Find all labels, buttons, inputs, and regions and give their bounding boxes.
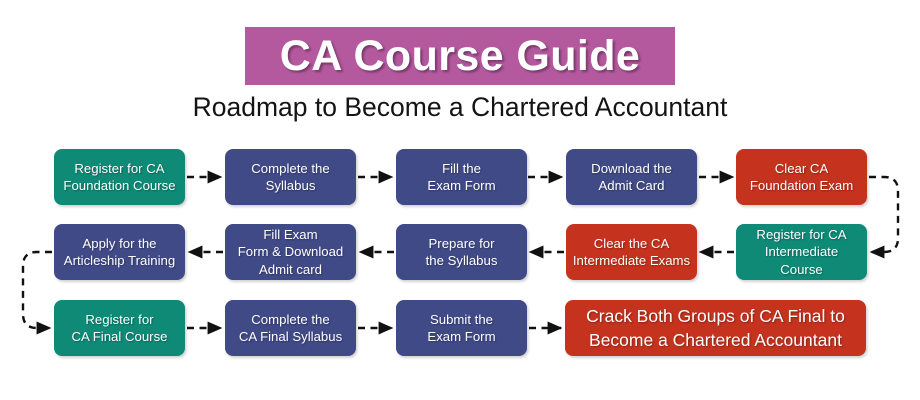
node-fill-exam-form-download-admit-card[interactable]: Fill Exam Form & Download Admit card (225, 224, 356, 280)
node-complete-ca-final-syllabus[interactable]: Complete the CA Final Syllabus (225, 300, 356, 356)
node-clear-ca-foundation-exam[interactable]: Clear CA Foundation Exam (736, 149, 867, 205)
node-submit-the-exam-form[interactable]: Submit the Exam Form (396, 300, 527, 356)
node-prepare-for-the-syllabus[interactable]: Prepare for the Syllabus (396, 224, 527, 280)
arrow-wrap-right (869, 177, 898, 252)
node-complete-the-syllabus[interactable]: Complete the Syllabus (225, 149, 356, 205)
title-banner: CA Course Guide (245, 27, 675, 85)
node-crack-both-groups-ca-final[interactable]: Crack Both Groups of CA Final to Become … (565, 300, 866, 356)
node-clear-ca-intermediate-exams[interactable]: Clear the CA Intermediate Exams (566, 224, 697, 280)
node-download-the-admit-card[interactable]: Download the Admit Card (566, 149, 697, 205)
node-register-ca-final-course[interactable]: Register for CA Final Course (54, 300, 185, 356)
arrow-wrap-left (23, 252, 52, 328)
node-fill-the-exam-form[interactable]: Fill the Exam Form (396, 149, 527, 205)
page-title: CA Course Guide (280, 35, 640, 78)
node-register-ca-intermediate-course[interactable]: Register for CA Intermediate Course (736, 224, 867, 280)
page-subtitle: Roadmap to Become a Chartered Accountant (0, 92, 920, 122)
ca-course-guide-flowchart: CA Course Guide Roadmap to Become a Char… (0, 0, 920, 400)
node-register-ca-foundation-course[interactable]: Register for CA Foundation Course (54, 149, 185, 205)
node-apply-for-articleship-training[interactable]: Apply for the Articleship Training (54, 224, 185, 280)
